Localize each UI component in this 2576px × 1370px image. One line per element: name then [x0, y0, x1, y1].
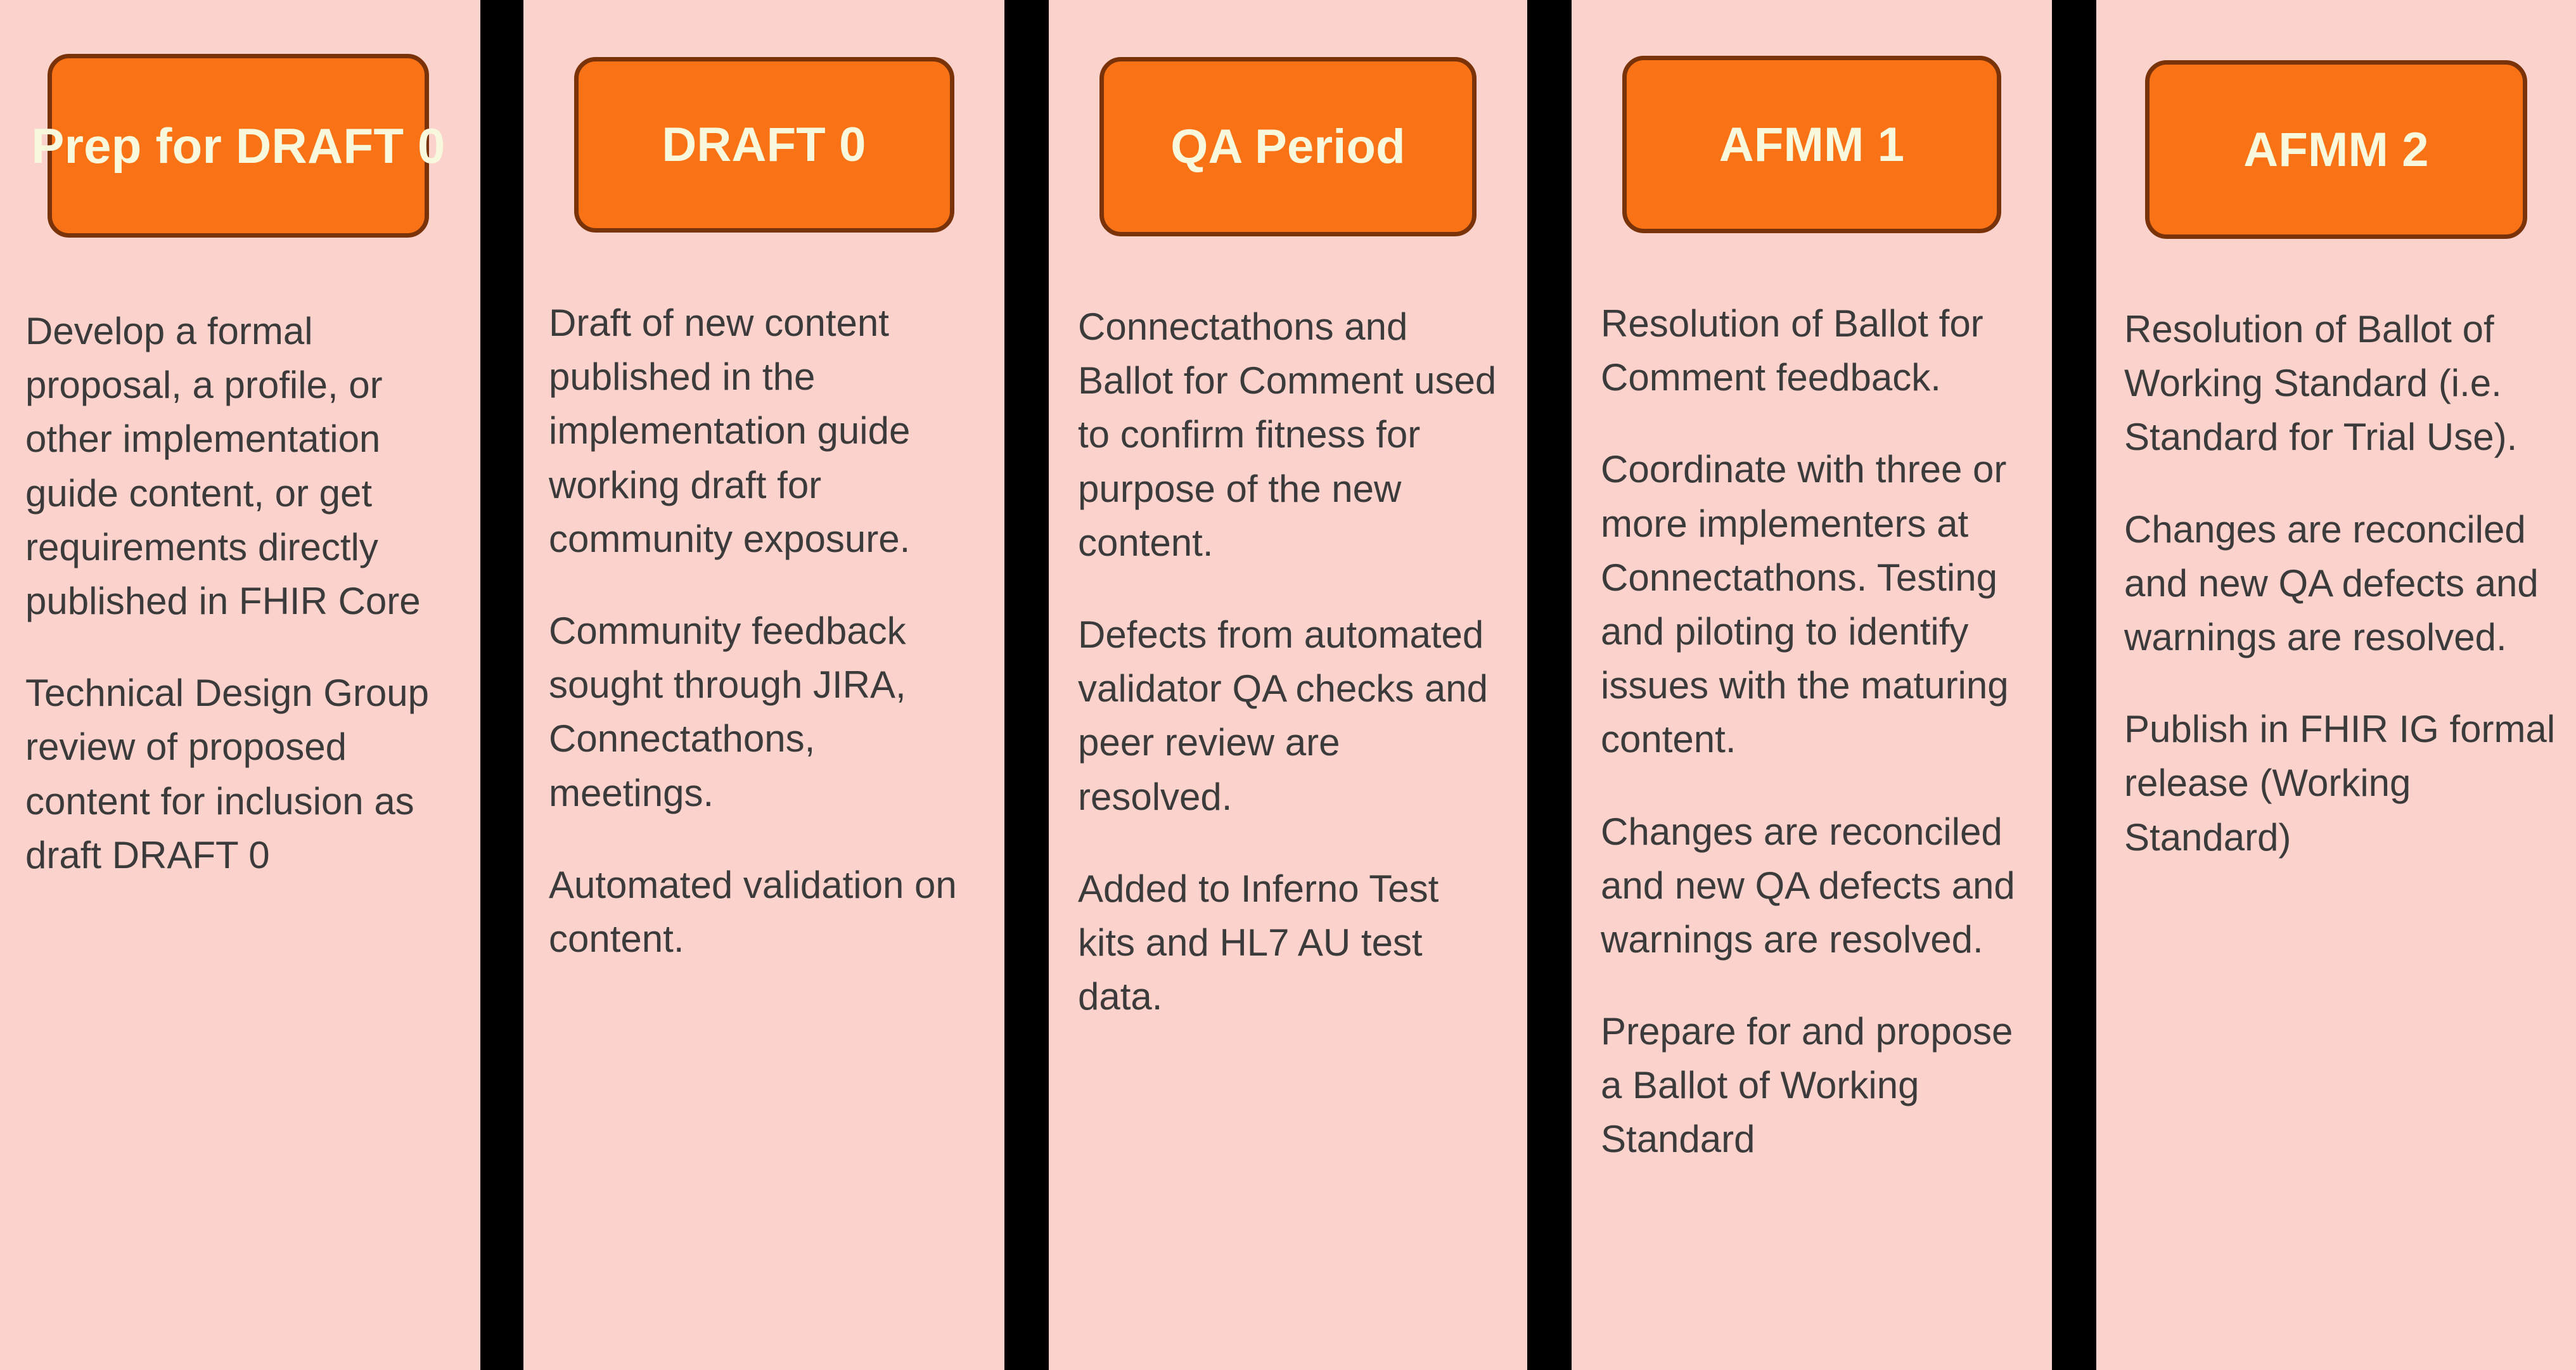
- stage-paragraph: Added to Inferno Test kits and HL7 AU te…: [1078, 862, 1504, 1024]
- stage-paragraph: Publish in FHIR IG formal release (Worki…: [2124, 702, 2557, 864]
- stage-paragraph: Changes are reconciled and new QA defect…: [2124, 503, 2557, 665]
- stage-header-afmm-1[interactable]: AFMM 1: [1622, 56, 2001, 233]
- stage-paragraph: Coordinate with three or more implemente…: [1601, 442, 2029, 766]
- column-divider-2: [1004, 0, 1049, 1370]
- stage-paragraph: Develop a formal proposal, a profile, or…: [25, 304, 454, 628]
- stage-body-4: Resolution of Ballot for Comment feedbac…: [1572, 233, 2052, 1167]
- column-divider-3: [1527, 0, 1572, 1370]
- stage-column-prep-for-draft-0: Prep for DRAFT 0 Develop a formal propos…: [0, 0, 480, 1370]
- stage-header-wrap-5: AFMM 2: [2096, 60, 2576, 239]
- stage-header-wrap-2: DRAFT 0: [523, 57, 1004, 233]
- stage-header-qa-period[interactable]: QA Period: [1099, 57, 1477, 236]
- stage-body-3: Connectathons and Ballot for Comment use…: [1049, 236, 1527, 1023]
- stage-paragraph: Changes are reconciled and new QA defect…: [1601, 805, 2029, 967]
- stage-header-prep-for-draft-0[interactable]: Prep for DRAFT 0: [48, 54, 429, 238]
- stage-column-afmm-1: AFMM 1 Resolution of Ballot for Comment …: [1572, 0, 2052, 1370]
- stage-paragraph: Prepare for and propose a Ballot of Work…: [1601, 1004, 2029, 1167]
- stage-paragraph: Defects from automated validator QA chec…: [1078, 608, 1504, 824]
- column-divider-1: [480, 0, 523, 1370]
- stage-header-wrap-4: AFMM 1: [1572, 56, 2052, 233]
- stage-header-draft-0[interactable]: DRAFT 0: [574, 57, 954, 233]
- stage-header-wrap-1: Prep for DRAFT 0: [0, 54, 480, 238]
- stage-paragraph: Resolution of Ballot for Comment feedbac…: [1601, 297, 2029, 404]
- stage-header-wrap-3: QA Period: [1049, 57, 1527, 236]
- stage-body-5: Resolution of Ballot of Working Standard…: [2096, 239, 2576, 864]
- maturity-stage-diagram: Prep for DRAFT 0 Develop a formal propos…: [0, 0, 2576, 1370]
- stage-paragraph: Community feedback sought through JIRA, …: [549, 604, 978, 820]
- stage-header-afmm-2[interactable]: AFMM 2: [2145, 60, 2527, 239]
- column-divider-4: [2052, 0, 2096, 1370]
- stage-body-1: Develop a formal proposal, a profile, or…: [0, 238, 480, 882]
- stage-paragraph: Connectathons and Ballot for Comment use…: [1078, 300, 1504, 570]
- stage-paragraph: Automated validation on content.: [549, 858, 978, 966]
- stage-paragraph: Draft of new content published in the im…: [549, 296, 978, 566]
- stage-paragraph: Resolution of Ballot of Working Standard…: [2124, 302, 2557, 464]
- stage-column-afmm-2: AFMM 2 Resolution of Ballot of Working S…: [2096, 0, 2576, 1370]
- stage-paragraph: Technical Design Group review of propose…: [25, 666, 454, 882]
- stage-body-2: Draft of new content published in the im…: [523, 233, 1004, 966]
- stage-column-draft-0: DRAFT 0 Draft of new content published i…: [523, 0, 1004, 1370]
- stage-column-qa-period: QA Period Connectathons and Ballot for C…: [1049, 0, 1527, 1370]
